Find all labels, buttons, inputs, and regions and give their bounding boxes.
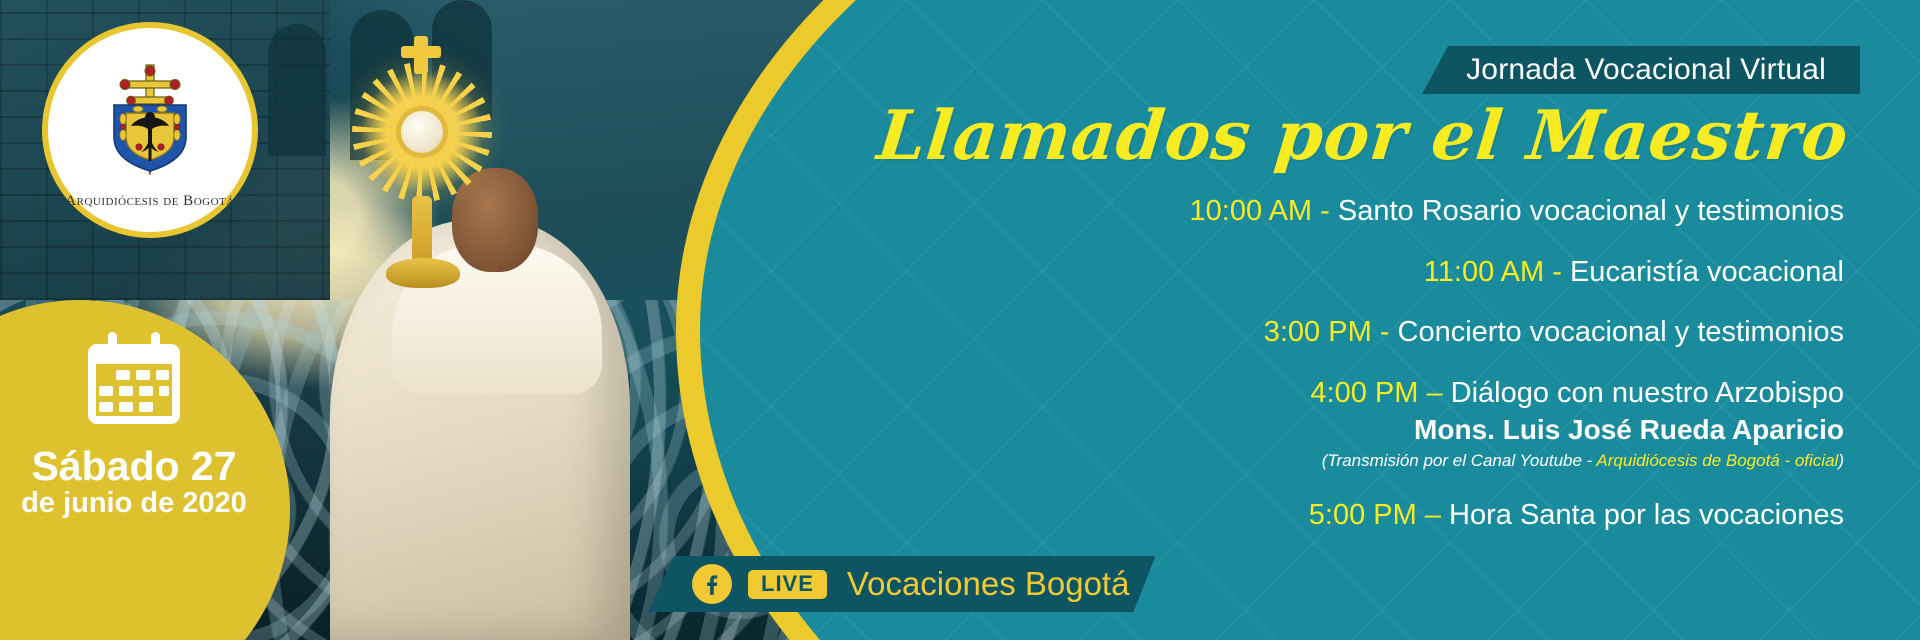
schedule-time: 3:00 PM [1264,316,1372,348]
schedule-time: 4:00 PM [1310,377,1418,409]
date-primary: Sábado 27 [31,446,236,488]
logo-caption: Arquidiócesis de Bogotá [65,193,234,210]
date-badge: Sábado 27 de junio de 2020 [0,330,268,520]
schedule-time: 11:00 AM [1424,256,1544,288]
schedule-list: 10:00 AM - Santo Rosario vocacional y te… [1064,196,1844,560]
schedule-separator: – [1417,499,1449,531]
organization-logo: Arquidiócesis de Bogotá [42,22,258,238]
schedule-speaker: Mons. Luis José Rueda Aparicio [1064,415,1844,445]
facebook-handle[interactable]: Vocaciones Bogotá [847,565,1130,603]
schedule-broadcast-note: (Transmisión por el Canal Youtube - Arqu… [1064,452,1844,470]
schedule-description: Hora Santa por las vocaciones [1449,499,1844,531]
facebook-live-ribbon[interactable]: LIVE Vocaciones Bogotá [648,556,1155,612]
schedule-time: 5:00 PM [1309,499,1417,531]
schedule-item: 11:00 AM - Eucaristía vocacional [1064,257,1844,288]
schedule-item: 10:00 AM - Santo Rosario vocacional y te… [1064,196,1844,227]
schedule-description: Diálogo con nuestro Arzobispo [1451,377,1844,409]
schedule-description: Eucaristía vocacional [1570,256,1844,288]
schedule-separator: - [1372,316,1398,348]
schedule-separator: - [1544,256,1570,288]
note-prefix: (Transmisión por el Canal Youtube - [1322,451,1597,470]
monstrance-cross-icon [414,36,428,74]
date-secondary: de junio de 2020 [21,488,247,520]
live-badge: LIVE [748,570,827,599]
facebook-icon[interactable] [692,564,732,604]
schedule-description: Santo Rosario vocacional y testimonios [1338,195,1844,227]
photo-arch [268,24,326,156]
kicker-ribbon: Jornada Vocacional Virtual [1422,46,1860,94]
schedule-separator: - [1312,195,1338,227]
schedule-item: 4:00 PM – Diálogo con nuestro Arzobispo … [1064,378,1844,469]
coat-of-arms-icon [94,51,206,191]
note-channel: Arquidiócesis de Bogotá - oficial [1596,451,1838,470]
schedule-item: 3:00 PM - Concierto vocacional y testimo… [1064,317,1844,348]
calendar-icon [82,330,186,426]
schedule-time: 10:00 AM [1190,195,1313,227]
note-suffix: ) [1838,451,1844,470]
schedule-separator: – [1418,377,1450,409]
schedule-item: 5:00 PM – Hora Santa por las vocaciones [1064,500,1844,531]
monstrance-host [396,106,448,158]
event-headline: Llamados por el Maestro [874,96,1853,176]
kicker-label: Jornada Vocacional Virtual [1466,53,1826,87]
event-banner: Arquidiócesis de Bogotá Sábado 27 de [0,0,1920,640]
facebook-glyph [699,571,725,597]
schedule-description: Concierto vocacional y testimonios [1398,316,1844,348]
monstrance-base [386,258,460,288]
